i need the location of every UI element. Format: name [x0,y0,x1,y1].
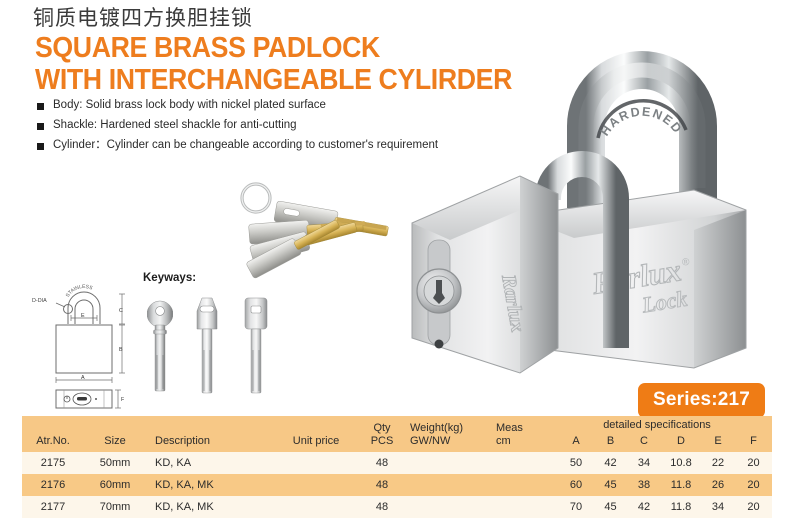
dimension-label-a: A [81,375,85,381]
cell-unit-price [276,496,356,518]
th-atr-no: Atr.No. [22,416,84,452]
cell-meas [492,496,558,518]
dimension-label-d-dia: D-DIA [32,298,47,304]
bullet-square-icon [37,123,44,130]
table-row: 2177 70mm KD, KA, MK 48 70 45 42 11.8 34… [22,496,772,518]
shackle-material-label: STAINLESS [65,284,94,298]
dimension-label-b: B [119,347,123,353]
drain-hole [435,340,444,349]
table-row: 2176 60mm KD, KA, MK 48 60 45 38 11.8 26… [22,474,772,496]
cell-spec-e: 22 [701,452,735,474]
cell-spec-c: 42 [627,496,661,518]
cell-description: KD, KA [146,452,276,474]
cell-spec-a: 70 [558,496,594,518]
keyways-label: Keyways: [143,272,196,284]
detailed-specifications-group-header: detailed specifications [552,419,762,431]
cell-spec-a: 60 [558,474,594,496]
th-description: Description [146,416,276,452]
cell-qty: 48 [356,474,408,496]
round-head-key-icon [147,297,173,393]
key-bundle-svg [222,182,412,294]
cell-spec-b: 45 [594,496,627,518]
padlock-product-photo: HARDENED Rarlux ® Lock [398,48,794,393]
table-row: 2175 50mm KD, KA 48 50 42 34 10.8 22 20 [22,452,772,474]
cell-spec-f: 20 [735,452,772,474]
list-item: Shackle: Hardened steel shackle for anti… [37,119,438,132]
cell-qty: 48 [356,452,408,474]
dimension-label-e: E [81,313,85,319]
hex-head-key [191,295,223,395]
product-spec-sheet: 铜质电镀四方换胆挂锁 SQUARE BRASS PADLOCK WITH INT… [0,0,794,528]
cell-spec-e: 34 [701,496,735,518]
english-title-line-1: SQUARE BRASS PADLOCK [35,32,380,64]
bullet-square-icon [37,103,44,110]
cell-spec-d: 11.8 [661,474,701,496]
hex-head-key-icon [191,295,223,395]
th-unit-price: Unit price [276,416,356,452]
th-meas: Meas cm [492,416,558,452]
cell-spec-b: 45 [594,474,627,496]
cell-meas [492,474,558,496]
cell-atr-no: 2175 [22,452,84,474]
feature-text: Cylinder：Cylinder can be changeable acco… [53,139,438,152]
cell-spec-e: 26 [701,474,735,496]
cell-spec-b: 42 [594,452,627,474]
padlock-dimension-svg: D-DIA STAINLESS E C B [30,268,145,418]
cell-qty: 48 [356,496,408,518]
cell-atr-no: 2177 [22,496,84,518]
cell-unit-price [276,452,356,474]
dimension-label-c: C [119,308,123,314]
th-weight: Weight(kg) GW/NW [408,416,492,452]
cell-meas [492,452,558,474]
cell-spec-c: 38 [627,474,661,496]
th-size: Size [84,416,146,452]
cell-spec-d: 10.8 [661,452,701,474]
cell-weight [408,496,492,518]
cell-spec-f: 20 [735,474,772,496]
th-qty: Qty PCS [356,416,408,452]
chinese-product-title: 铜质电镀四方换胆挂锁 [33,6,253,30]
technical-dimension-drawing: D-DIA STAINLESS E C B [30,268,145,418]
feature-list: Body: Solid brass lock body with nickel … [37,99,438,159]
round-head-key [147,297,173,393]
feature-text: Shackle: Hardened steel shackle for anti… [53,119,297,132]
list-item: Cylinder：Cylinder can be changeable acco… [37,139,438,152]
specifications-table: Atr.No. Size Description Unit price Qty … [22,416,772,518]
cell-atr-no: 2176 [22,474,84,496]
cell-weight [408,474,492,496]
key-bundle-photo [222,182,412,294]
bullet-square-icon [37,143,44,150]
list-item: Body: Solid brass lock body with nickel … [37,99,438,112]
square-head-key [240,295,272,395]
cell-unit-price [276,474,356,496]
cell-weight [408,452,492,474]
cell-spec-a: 50 [558,452,594,474]
cell-size: 60mm [84,474,146,496]
series-badge: Series:217 [638,383,765,418]
feature-text: Body: Solid brass lock body with nickel … [53,99,326,112]
cell-spec-f: 20 [735,496,772,518]
cell-spec-c: 34 [627,452,661,474]
square-head-key-icon [240,295,272,395]
cell-description: KD, KA, MK [146,496,276,518]
cell-description: KD, KA, MK [146,474,276,496]
padlock-photo-svg: HARDENED Rarlux ® Lock [398,48,794,393]
cell-size: 70mm [84,496,146,518]
dimension-label-f: F [121,397,124,403]
cell-size: 50mm [84,452,146,474]
cell-spec-d: 11.8 [661,496,701,518]
